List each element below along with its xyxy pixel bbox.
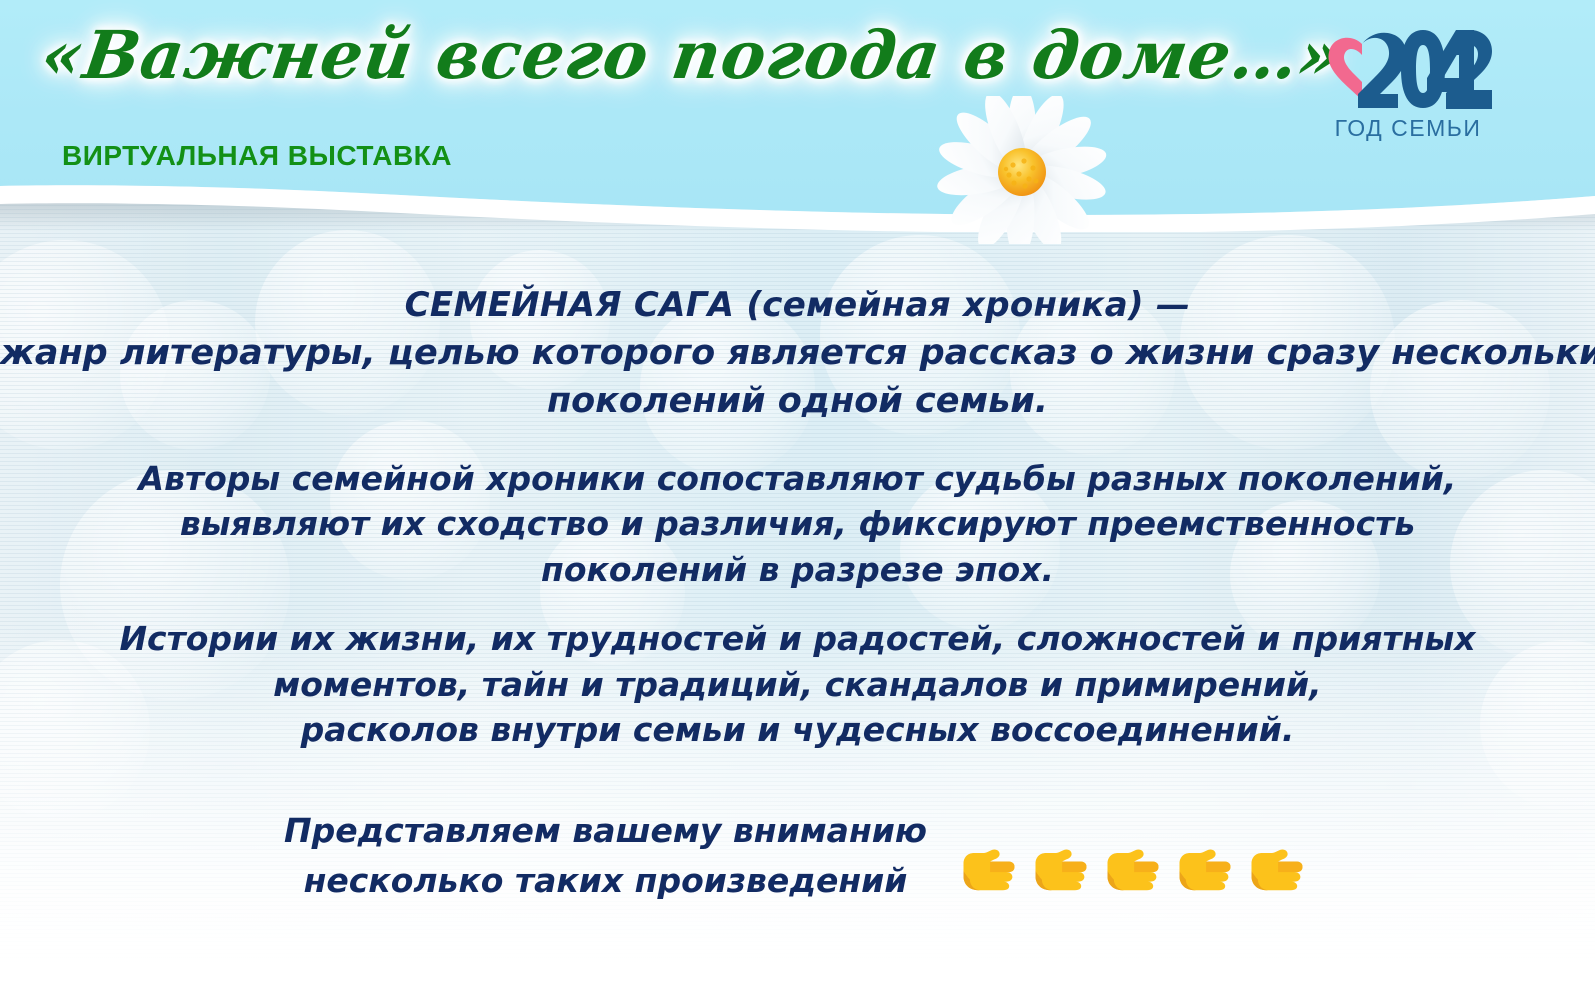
paragraph-line: Авторы семейной хроники сопоставляют суд… bbox=[0, 456, 1595, 502]
header-subtitle: ВИРТУАЛЬНАЯ ВЫСТАВКА bbox=[62, 140, 452, 172]
paragraph-line: выявляют их сходство и различия, фиксиру… bbox=[0, 501, 1595, 547]
backhand-index-pointing-right-icon bbox=[1243, 836, 1311, 904]
year-of-family-logo: ГОД СЕМЬИ bbox=[1318, 18, 1498, 144]
page-title: «Важней всего погода в доме…» bbox=[37, 16, 1347, 94]
paragraph-line: Истории их жизни, их трудностей и радост… bbox=[0, 616, 1595, 662]
backhand-index-pointing-right-icon bbox=[1099, 836, 1167, 904]
main-content: СЕМЕЙНАЯ САГА (семейная хроника) — жанр … bbox=[0, 282, 1595, 753]
paragraph-line: расколов внутри семьи и чудесных воссоед… bbox=[0, 707, 1595, 753]
backhand-index-pointing-right-icon bbox=[1171, 836, 1239, 904]
pointing-hands-group bbox=[955, 836, 1311, 904]
paragraph-authors: Авторы семейной хроники сопоставляют суд… bbox=[0, 456, 1595, 593]
closing-callout: Представляем вашему вниманию несколько т… bbox=[0, 806, 1595, 905]
daisy-flower-icon bbox=[912, 96, 1132, 244]
paragraph-line: поколений одной семьи. bbox=[0, 377, 1595, 425]
paragraph-line: поколений в разрезе эпох. bbox=[0, 547, 1595, 593]
closing-text: Представляем вашему вниманию несколько т… bbox=[284, 806, 927, 905]
paragraph-line: СЕМЕЙНАЯ САГА (семейная хроника) — bbox=[0, 282, 1595, 329]
backhand-index-pointing-right-icon bbox=[1027, 836, 1095, 904]
paragraph-line: жанр литературы, целью которого является… bbox=[0, 329, 1595, 377]
paragraph-stories: Истории их жизни, их трудностей и радост… bbox=[0, 616, 1595, 753]
backhand-index-pointing-right-icon bbox=[955, 836, 1023, 904]
closing-line: несколько таких произведений bbox=[284, 856, 927, 906]
closing-line: Представляем вашему вниманию bbox=[284, 806, 927, 856]
paragraph-definition: СЕМЕЙНАЯ САГА (семейная хроника) — жанр … bbox=[0, 282, 1595, 426]
poster-slide: «Важней всего погода в доме…» ВИРТУАЛЬНА… bbox=[0, 0, 1595, 1008]
paragraph-line: моментов, тайн и традиций, скандалов и п… bbox=[0, 662, 1595, 708]
logo-caption: ГОД СЕМЬИ bbox=[1335, 115, 1482, 141]
